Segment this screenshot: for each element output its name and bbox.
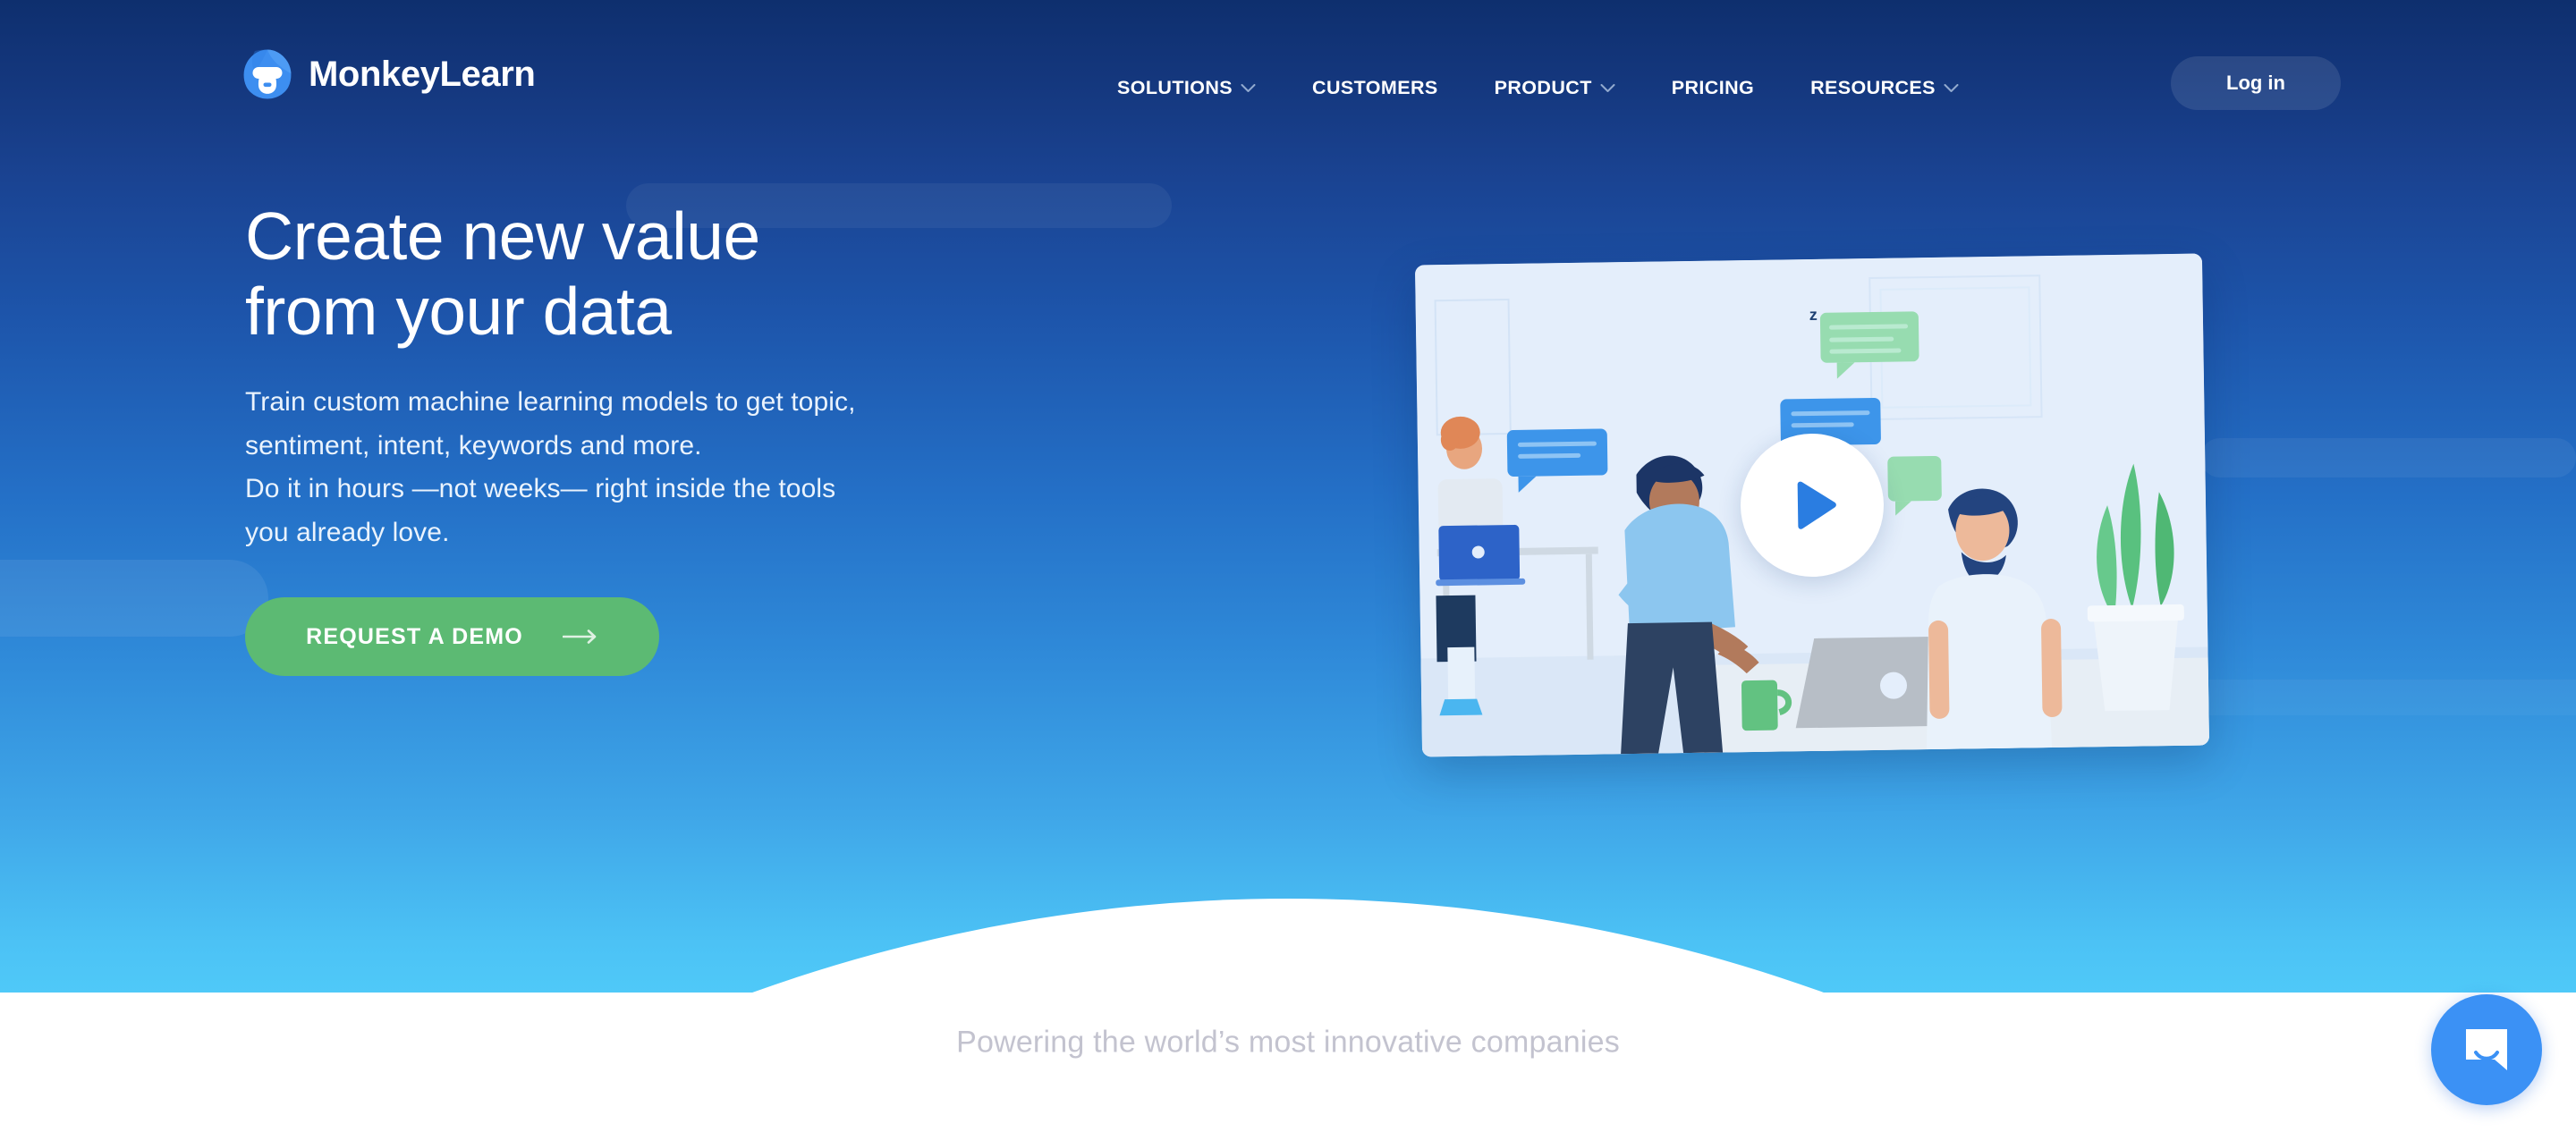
play-icon xyxy=(1792,480,1840,531)
nav-links: SOLUTIONS CUSTOMERS PRODUCT PRICING xyxy=(1117,72,1959,105)
brand-logo-link[interactable]: MonkeyLearn xyxy=(242,48,535,100)
request-demo-label: REQUEST A DEMO xyxy=(306,624,523,650)
nav-item-solutions[interactable]: SOLUTIONS xyxy=(1117,72,1256,105)
main-navigation: MonkeyLearn SOLUTIONS CUSTOMERS PRODUCT xyxy=(0,0,2576,97)
hero-sub-line-4: you already love. xyxy=(245,518,450,547)
monkey-logo-icon xyxy=(242,48,292,100)
hero-sub-line-2: sentiment, intent, keywords and more. xyxy=(245,431,702,460)
hero-title-line-1: Create new value xyxy=(245,199,760,274)
hero-bottom-wave xyxy=(0,899,2576,993)
chevron-down-icon xyxy=(1241,83,1256,93)
hero-sub-line-3: Do it in hours —not weeks— right inside … xyxy=(245,474,835,503)
request-demo-button[interactable]: REQUEST A DEMO xyxy=(245,597,659,676)
chat-bubble-icon xyxy=(2461,1024,2512,1076)
hero-video-thumbnail[interactable]: z xyxy=(1415,254,2209,757)
nav-item-pricing[interactable]: PRICING xyxy=(1672,72,1754,105)
arrow-right-icon xyxy=(563,629,598,645)
landing-page: MonkeyLearn SOLUTIONS CUSTOMERS PRODUCT xyxy=(0,0,2576,1132)
nav-item-label: CUSTOMERS xyxy=(1312,77,1438,99)
nav-item-product[interactable]: PRODUCT xyxy=(1495,72,1615,105)
chevron-down-icon xyxy=(1944,83,1959,93)
nav-item-label: PRICING xyxy=(1672,77,1754,99)
chevron-down-icon xyxy=(1600,83,1615,93)
nav-item-label: SOLUTIONS xyxy=(1117,77,1233,99)
logos-section-heading: Powering the world’s most innovative com… xyxy=(0,1026,2576,1060)
hero-sub-line-1: Train custom machine learning models to … xyxy=(245,387,856,417)
nav-item-label: RESOURCES xyxy=(1810,77,1936,99)
decorative-pill-3 xyxy=(0,560,268,637)
chat-widget-button[interactable] xyxy=(2431,994,2542,1105)
hero-copy: Create new value from your data Train cu… xyxy=(245,199,1140,676)
hero-title-line-2: from your data xyxy=(245,274,672,349)
nav-item-resources[interactable]: RESOURCES xyxy=(1810,72,1959,105)
hero-subtitle: Train custom machine learning models to … xyxy=(245,381,1140,554)
nav-item-customers[interactable]: CUSTOMERS xyxy=(1312,72,1438,105)
decorative-pill-2 xyxy=(2200,438,2576,477)
login-button[interactable]: Log in xyxy=(2171,56,2341,110)
page-title: Create new value from your data xyxy=(245,199,1140,349)
brand-name: MonkeyLearn xyxy=(309,56,535,92)
nav-item-label: PRODUCT xyxy=(1495,77,1592,99)
svg-text:z: z xyxy=(1809,306,1818,324)
